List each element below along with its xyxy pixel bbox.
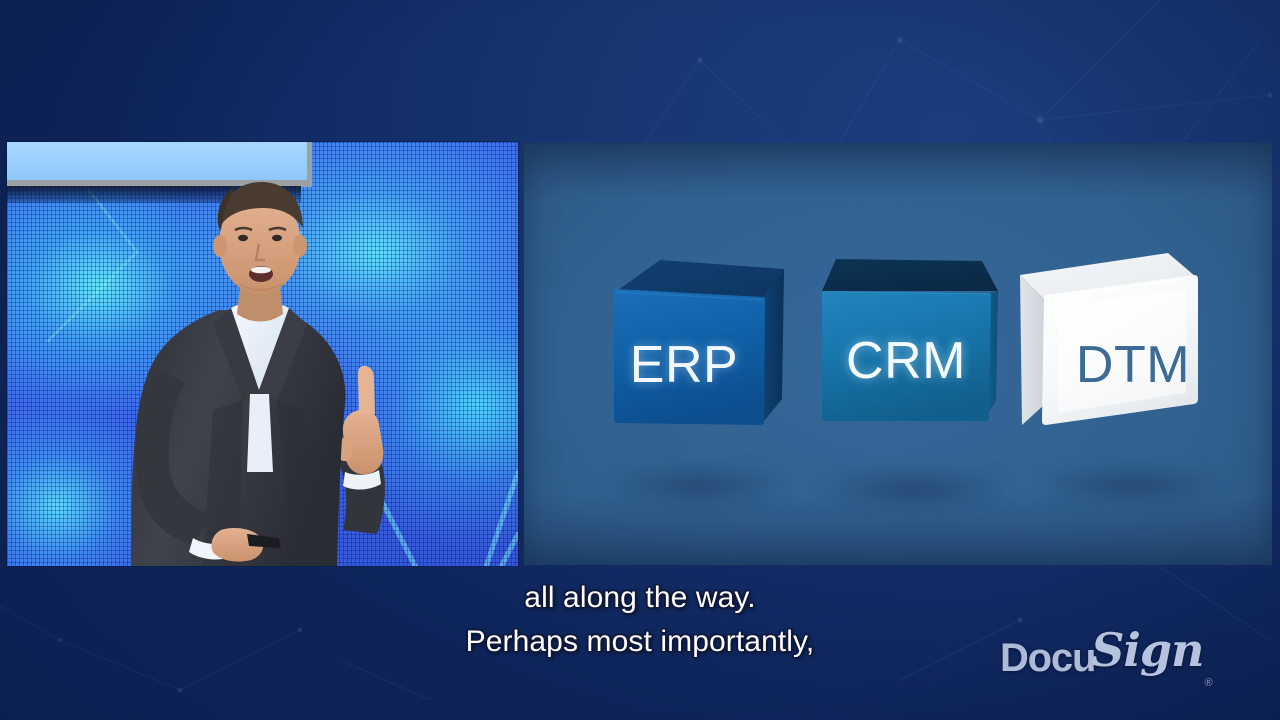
cube-shadow-crm xyxy=(824,475,1002,503)
video-frame: ERP xyxy=(0,0,1280,720)
presentation-slide: ERP xyxy=(524,143,1272,565)
docusign-logo: Docu Sign ® xyxy=(1000,627,1212,681)
cube-label-erp: ERP xyxy=(584,335,784,395)
speaker-head xyxy=(213,182,307,294)
cube-label-dtm: DTM xyxy=(1028,335,1238,395)
cube-shadow-dtm xyxy=(1044,473,1216,499)
cube-dtm: DTM xyxy=(1010,247,1220,437)
caption-line-1: all along the way. xyxy=(0,576,1280,620)
cube-group: ERP xyxy=(524,143,1272,565)
docusign-logo-sign: Sign xyxy=(1091,623,1203,677)
registered-trademark-icon: ® xyxy=(1205,677,1213,689)
cube-crm: CRM xyxy=(810,251,1010,433)
cube-label-crm: CRM xyxy=(806,331,1006,391)
speaker-camera-feed xyxy=(7,142,518,566)
docusign-logo-docu: Docu xyxy=(1000,636,1095,681)
speaker-figure xyxy=(7,142,518,566)
cube-erp: ERP xyxy=(598,253,798,433)
cube-shadow-erp xyxy=(616,473,782,499)
